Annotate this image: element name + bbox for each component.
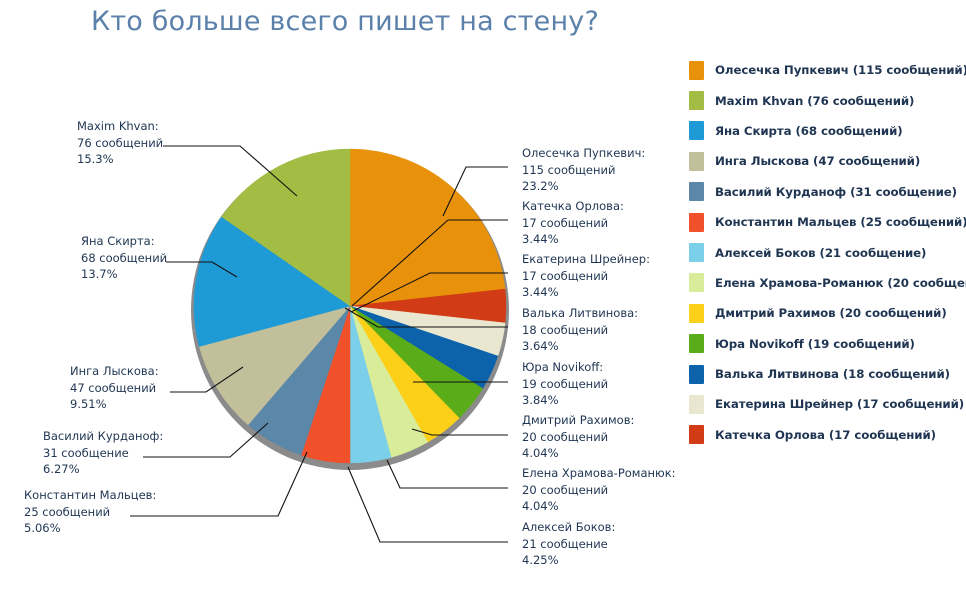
- callout-katechka-orlova: Катечка Орлова: 17 сообщений 3.44%: [522, 198, 624, 248]
- chart-title: Кто больше всего пишет на стену?: [0, 6, 690, 37]
- callout-messages: 21 сообщение: [522, 536, 615, 553]
- callout-aleksey-bokov: Алексей Боков: 21 сообщение 4.25%: [522, 519, 615, 569]
- callout-name: Инга Лыскова:: [70, 363, 159, 380]
- legend-item[interactable]: Елена Храмова-Романюк (20 сообщений): [686, 268, 966, 298]
- callout-percent: 4.04%: [522, 445, 634, 462]
- callout-name: Василий Курданоф:: [43, 428, 163, 445]
- callout-messages: 115 сообщений: [522, 162, 645, 179]
- callout-percent: 3.44%: [522, 231, 624, 248]
- legend-item[interactable]: Алексей Боков (21 сообщение): [686, 237, 966, 267]
- legend-item-label: Яна Скирта (68 сообщений): [715, 124, 903, 138]
- legend-item-label: Олесечка Пупкевич (115 сообщений): [715, 63, 966, 77]
- callout-percent: 3.44%: [522, 284, 650, 301]
- legend-color-swatch: [689, 425, 704, 444]
- callout-messages: 76 сообщений: [77, 135, 163, 152]
- callout-name: Валька Литвинова:: [522, 305, 638, 322]
- callout-percent: 13.7%: [81, 266, 167, 283]
- callout-messages: 17 сообщений: [522, 215, 624, 232]
- callout-yura-novikoff: Юра Novikoff: 19 сообщений 3.84%: [522, 359, 608, 409]
- legend-item[interactable]: Maxim Khvan (76 сообщений): [686, 85, 966, 115]
- pie-slice-group: [194, 149, 506, 463]
- callout-name: Яна Скирта:: [81, 233, 167, 250]
- callout-messages: 18 сообщений: [522, 322, 638, 339]
- legend-item-label: Юра Novikoff (19 сообщений): [715, 337, 915, 351]
- callout-percent: 4.04%: [522, 498, 676, 515]
- legend-item[interactable]: Юра Novikoff (19 сообщений): [686, 329, 966, 359]
- callout-messages: 47 сообщений: [70, 380, 159, 397]
- legend-color-swatch: [689, 334, 704, 353]
- callout-percent: 3.84%: [522, 392, 608, 409]
- legend-item-label: Василий Курданоф (31 сообщение): [715, 185, 957, 199]
- legend-item[interactable]: Василий Курданоф (31 сообщение): [686, 177, 966, 207]
- legend-item[interactable]: Константин Мальцев (25 сообщений): [686, 207, 966, 237]
- pie-graphic: [160, 138, 540, 498]
- callout-dmitriy-rakhimov: Дмитрий Рахимов: 20 сообщений 4.04%: [522, 412, 634, 462]
- chart-legend: Олесечка Пупкевич (115 сообщений)Maxim K…: [686, 55, 966, 455]
- callout-elena-khramova: Елена Храмова-Романюк: 20 сообщений 4.04…: [522, 465, 676, 515]
- pie-chart-figure: Кто больше всего пишет на стену?: [0, 0, 966, 604]
- legend-item[interactable]: Валька Литвинова (18 сообщений): [686, 359, 966, 389]
- callout-name: Елена Храмова-Романюк:: [522, 465, 676, 482]
- legend-color-swatch: [689, 61, 704, 80]
- callout-yana-skirta: Яна Скирта: 68 сообщений 13.7%: [81, 233, 167, 283]
- legend-item-label: Валька Литвинова (18 сообщений): [715, 367, 950, 381]
- callout-messages: 25 сообщений: [24, 504, 156, 521]
- pie-slice[interactable]: [350, 149, 505, 306]
- callout-messages: 31 сообщение: [43, 445, 163, 462]
- callout-percent: 3.64%: [522, 338, 638, 355]
- callout-messages: 20 сообщений: [522, 482, 676, 499]
- legend-color-swatch: [689, 91, 704, 110]
- legend-item[interactable]: Катечка Орлова (17 сообщений): [686, 420, 966, 450]
- legend-item[interactable]: Екатерина Шрейнер (17 сообщений): [686, 389, 966, 419]
- legend-color-swatch: [689, 152, 704, 171]
- legend-color-swatch: [689, 121, 704, 140]
- legend-item-label: Алексей Боков (21 сообщение): [715, 246, 926, 260]
- callout-olesechka-pupkevich: Олесечка Пупкевич: 115 сообщений 23.2%: [522, 145, 645, 195]
- legend-color-swatch: [689, 182, 704, 201]
- callout-percent: 5.06%: [24, 520, 156, 537]
- callout-name: Екатерина Шрейнер:: [522, 251, 650, 268]
- legend-color-swatch: [689, 395, 704, 414]
- callout-name: Алексей Боков:: [522, 519, 615, 536]
- callout-vasiliy-kurdanof: Василий Курданоф: 31 сообщение 6.27%: [43, 428, 163, 478]
- callout-messages: 68 сообщений: [81, 250, 167, 267]
- legend-item[interactable]: Инга Лыскова (47 сообщений): [686, 146, 966, 176]
- callout-percent: 23.2%: [522, 178, 645, 195]
- callout-percent: 6.27%: [43, 461, 163, 478]
- callout-maxim-khvan: Maxim Khvan: 76 сообщений 15.3%: [77, 118, 163, 168]
- callout-name: Катечка Орлова:: [522, 198, 624, 215]
- legend-color-swatch: [689, 304, 704, 323]
- callout-name: Константин Мальцев:: [24, 487, 156, 504]
- legend-color-swatch: [689, 365, 704, 384]
- callout-name: Дмитрий Рахимов:: [522, 412, 634, 429]
- pie-svg: [160, 138, 540, 498]
- callout-ekaterina-shreyner: Екатерина Шрейнер: 17 сообщений 3.44%: [522, 251, 650, 301]
- legend-item-label: Катечка Орлова (17 сообщений): [715, 428, 936, 442]
- legend-item-label: Константин Мальцев (25 сообщений): [715, 215, 966, 229]
- callout-inga-lyskova: Инга Лыскова: 47 сообщений 9.51%: [70, 363, 159, 413]
- legend-item[interactable]: Дмитрий Рахимов (20 сообщений): [686, 298, 966, 328]
- legend-item-label: Екатерина Шрейнер (17 сообщений): [715, 397, 964, 411]
- callout-name: Maxim Khvan:: [77, 118, 163, 135]
- callout-name: Олесечка Пупкевич:: [522, 145, 645, 162]
- callout-percent: 15.3%: [77, 151, 163, 168]
- legend-color-swatch: [689, 213, 704, 232]
- callout-konstantin-maltsev: Константин Мальцев: 25 сообщений 5.06%: [24, 487, 156, 537]
- callout-name: Юра Novikoff:: [522, 359, 608, 376]
- legend-item-label: Инга Лыскова (47 сообщений): [715, 154, 920, 168]
- legend-color-swatch: [689, 243, 704, 262]
- callout-messages: 20 сообщений: [522, 429, 634, 446]
- callout-messages: 19 сообщений: [522, 376, 608, 393]
- legend-item-label: Дмитрий Рахимов (20 сообщений): [715, 306, 947, 320]
- legend-item[interactable]: Яна Скирта (68 сообщений): [686, 116, 966, 146]
- callout-percent: 4.25%: [522, 552, 615, 569]
- callout-messages: 17 сообщений: [522, 268, 650, 285]
- legend-item[interactable]: Олесечка Пупкевич (115 сообщений): [686, 55, 966, 85]
- legend-color-swatch: [689, 273, 704, 292]
- legend-item-label: Maxim Khvan (76 сообщений): [715, 94, 914, 108]
- callout-percent: 9.51%: [70, 396, 159, 413]
- callout-valka-litvinova: Валька Литвинова: 18 сообщений 3.64%: [522, 305, 638, 355]
- legend-item-label: Елена Храмова-Романюк (20 сообщений): [715, 276, 966, 290]
